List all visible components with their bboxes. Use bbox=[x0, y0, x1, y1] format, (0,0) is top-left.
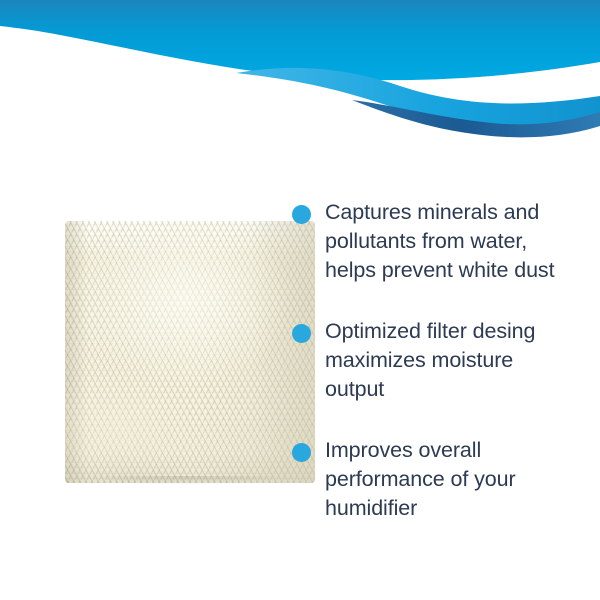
feature-bullet-list: Captures minerals and pollutants from wa… bbox=[292, 198, 582, 523]
wave-shape-main bbox=[0, 0, 600, 80]
filter-mesh-texture bbox=[65, 221, 315, 483]
wave-shape-cyan-ribbon bbox=[236, 68, 600, 125]
feature-text: Captures minerals and pollutants from wa… bbox=[325, 198, 582, 285]
humidifier-wick-filter-image bbox=[65, 221, 315, 483]
product-feature-graphic: Captures minerals and pollutants from wa… bbox=[0, 0, 600, 600]
feature-item-optimized-design: Optimized filter desing maximizes moistu… bbox=[292, 317, 582, 404]
bullet-dot-icon bbox=[292, 324, 311, 343]
feature-text: Optimized filter desing maximizes moistu… bbox=[325, 317, 582, 404]
decorative-wave-banner bbox=[0, 0, 600, 140]
bullet-dot-icon bbox=[292, 443, 311, 462]
bullet-dot-icon bbox=[292, 205, 311, 224]
feature-text: Improves overall performance of your hum… bbox=[325, 436, 582, 523]
feature-item-captures-minerals: Captures minerals and pollutants from wa… bbox=[292, 198, 582, 285]
product-image-container bbox=[65, 221, 315, 483]
wave-shape-navy-ribbon bbox=[352, 100, 600, 137]
feature-item-improves-performance: Improves overall performance of your hum… bbox=[292, 436, 582, 523]
